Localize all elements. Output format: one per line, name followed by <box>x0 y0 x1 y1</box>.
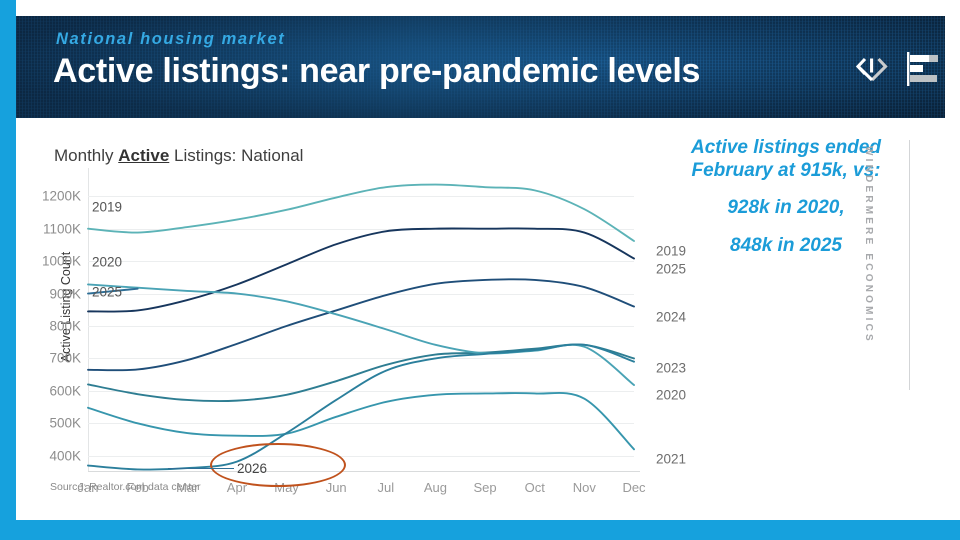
annotation-2026-line <box>168 468 234 470</box>
series-end-label-2021: 2021 <box>656 452 686 467</box>
series-start-label-2019: 2019 <box>92 199 122 214</box>
annotation-2026: 2026 <box>168 461 267 476</box>
series-end-label-2023: 2023 <box>656 361 686 376</box>
x-tick-label: Sep <box>474 480 497 495</box>
header-eyebrow: National housing market <box>56 30 285 49</box>
annotation-2026-label: 2026 <box>237 461 267 476</box>
x-tick-label: Aug <box>424 480 447 495</box>
series-line-2024 <box>88 279 634 370</box>
vertical-divider <box>909 140 910 390</box>
series-start-label-2025: 2025 <box>92 285 122 300</box>
y-tick-label: 1200K <box>42 189 88 204</box>
series-end-label-2020: 2020 <box>656 388 686 403</box>
chart-card: Monthly Active Listings: National Active… <box>32 132 680 510</box>
y-tick-label: 800K <box>49 319 88 334</box>
page-title: Active listings: near pre-pandemic level… <box>53 52 700 91</box>
series-end-label-2019: 2019 <box>656 243 686 258</box>
series-line-2022 <box>88 344 634 469</box>
series-start-label-2020: 2020 <box>92 255 122 270</box>
chart-title-prefix: Monthly <box>54 146 118 165</box>
slide-canvas: National housing market Active listings:… <box>0 0 960 540</box>
series-line-2021 <box>88 393 634 449</box>
series-end-label-2025: 2025 <box>656 261 686 276</box>
x-tick-label: Oct <box>525 480 545 495</box>
y-tick-label: 1100K <box>43 221 88 236</box>
y-tick-label: 500K <box>49 416 88 431</box>
brand-vertical-label: WINDERMERE ECONOMICS <box>863 146 874 346</box>
callout-stat-2: 848k in 2025 <box>686 234 886 257</box>
series-line-2019 <box>88 185 634 241</box>
x-tick-label: Nov <box>573 480 596 495</box>
y-tick-label: 900K <box>49 286 88 301</box>
y-tick-label: 700K <box>49 351 88 366</box>
y-tick-label: 600K <box>49 383 88 398</box>
series-line-2025 <box>88 228 634 311</box>
x-tick-label: Jun <box>326 480 347 495</box>
source-note: Source: Realtor.com data center <box>50 481 201 493</box>
plot-area: 1200K1100K1000K900K800K700K600K500K400K … <box>88 180 634 472</box>
series-line-2020 <box>88 284 634 385</box>
windermere-bars-logo <box>904 48 946 90</box>
x-tick-label: Jul <box>378 480 395 495</box>
series-end-label-2024: 2024 <box>656 309 686 324</box>
chart-title: Monthly Active Listings: National <box>54 146 303 166</box>
callout-block: Active listings ended February at 915k, … <box>686 136 886 257</box>
callout-lead: Active listings ended February at 915k, … <box>686 136 886 182</box>
chart-title-emphasis: Active <box>118 146 169 165</box>
chart-title-suffix: Listings: National <box>169 146 303 165</box>
series-lines <box>88 180 634 472</box>
callout-stat-1: 928k in 2020, <box>686 196 886 219</box>
y-tick-label: 400K <box>49 448 88 463</box>
windermere-diamond-logo <box>852 52 892 86</box>
y-tick-label: 1000K <box>42 254 88 269</box>
x-tick-label: Dec <box>622 480 645 495</box>
